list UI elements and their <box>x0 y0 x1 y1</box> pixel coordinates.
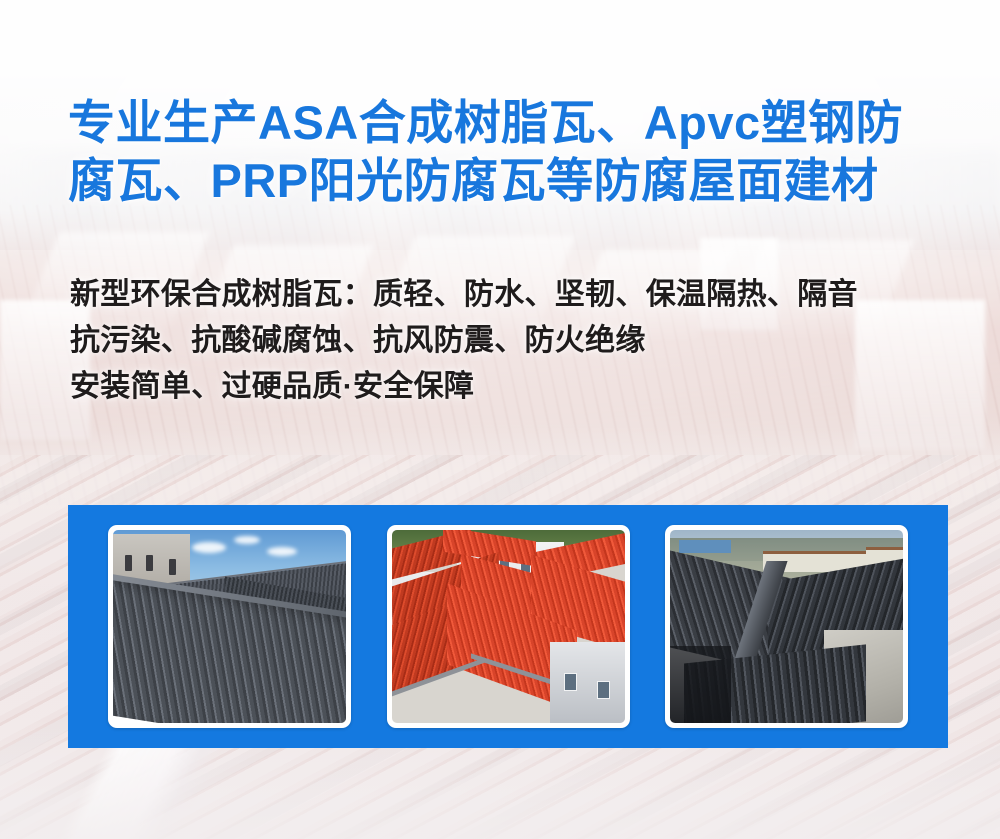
product-promo-banner: 专业生产ASA合成树脂瓦、Apvc塑钢防 腐瓦、PRP阳光防腐瓦等防腐屋面建材 … <box>0 0 1000 839</box>
photo-red-resin-tile-roofs <box>392 530 625 723</box>
photo-card-1 <box>108 525 351 728</box>
subtitle-line-1: 新型环保合成树脂瓦：质轻、防水、坚韧、保温隔热、隔音 <box>70 272 970 318</box>
photo-card-2 <box>387 525 630 728</box>
subtitle-block: 新型环保合成树脂瓦：质轻、防水、坚韧、保温隔热、隔音 抗污染、抗酸碱腐蚀、抗风防… <box>70 272 970 410</box>
photo-card-3 <box>665 525 908 728</box>
banner-content: 专业生产ASA合成树脂瓦、Apvc塑钢防 腐瓦、PRP阳光防腐瓦等防腐屋面建材 … <box>0 0 1000 839</box>
subtitle-line-3: 安装简单、过硬品质·安全保障 <box>70 364 970 410</box>
headline-line-1: 专业生产ASA合成树脂瓦、Apvc塑钢防 <box>68 94 948 152</box>
subtitle-line-2: 抗污染、抗酸碱腐蚀、抗风防震、防火绝缘 <box>70 318 970 364</box>
photo-gallery-panel <box>68 505 948 748</box>
headline-line-2: 腐瓦、PRP阳光防腐瓦等防腐屋面建材 <box>68 152 948 210</box>
headline: 专业生产ASA合成树脂瓦、Apvc塑钢防 腐瓦、PRP阳光防腐瓦等防腐屋面建材 <box>68 94 948 210</box>
photo-dark-grey-resin-tile-roof <box>113 530 346 723</box>
photo-dark-grey-tile-roof-village <box>670 530 903 723</box>
